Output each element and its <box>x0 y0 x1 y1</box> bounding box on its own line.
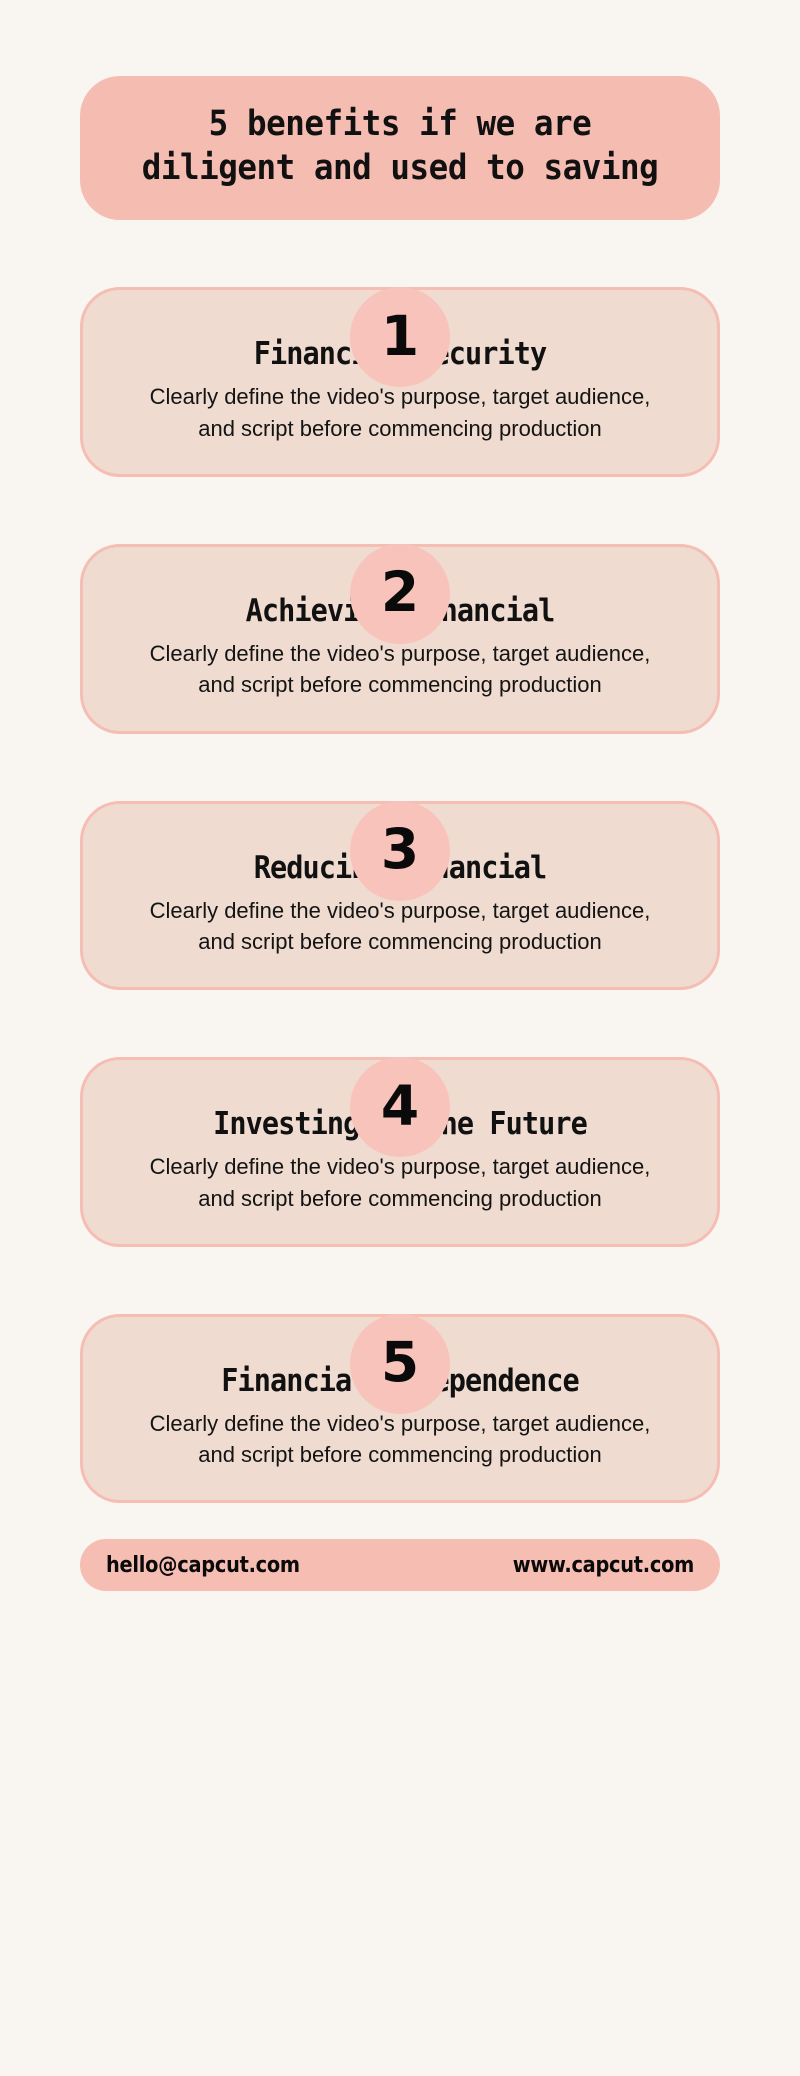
step-number: 2 <box>381 565 419 620</box>
benefit-item-4: 4 Investing in the Future Clearly define… <box>80 1057 720 1247</box>
step-badge-2: 2 <box>350 544 450 644</box>
step-number: 4 <box>381 1079 419 1134</box>
benefit-item-3: 3 Reducing Financial Clearly define the … <box>80 801 720 991</box>
benefit-item-5: 5 Financial Independence Clearly define … <box>80 1314 720 1504</box>
benefit-item-1: 1 Financial Security Clearly define the … <box>80 287 720 477</box>
footer-email[interactable]: hello@capcut.com <box>106 1553 300 1578</box>
benefit-body: Clearly define the video's purpose, targ… <box>135 381 665 443</box>
step-number: 3 <box>381 822 419 877</box>
page-title: 5 benefits if we are diligent and used t… <box>130 102 669 190</box>
benefit-body: Clearly define the video's purpose, targ… <box>135 638 665 700</box>
step-badge-3: 3 <box>350 801 450 901</box>
step-number: 1 <box>381 309 419 364</box>
benefit-item-2: 2 Achieving Financial Clearly define the… <box>80 544 720 734</box>
title-banner: 5 benefits if we are diligent and used t… <box>80 76 720 220</box>
benefit-body: Clearly define the video's purpose, targ… <box>135 895 665 957</box>
infographic-poster: 5 benefits if we are diligent and used t… <box>0 76 800 2076</box>
footer-website[interactable]: www.capcut.com <box>513 1553 694 1578</box>
benefit-body: Clearly define the video's purpose, targ… <box>135 1151 665 1213</box>
footer-bar: hello@capcut.com www.capcut.com <box>80 1539 720 1591</box>
step-number: 5 <box>381 1335 419 1390</box>
benefit-body: Clearly define the video's purpose, targ… <box>135 1408 665 1470</box>
step-badge-1: 1 <box>350 287 450 387</box>
step-badge-4: 4 <box>350 1057 450 1157</box>
step-badge-5: 5 <box>350 1314 450 1414</box>
